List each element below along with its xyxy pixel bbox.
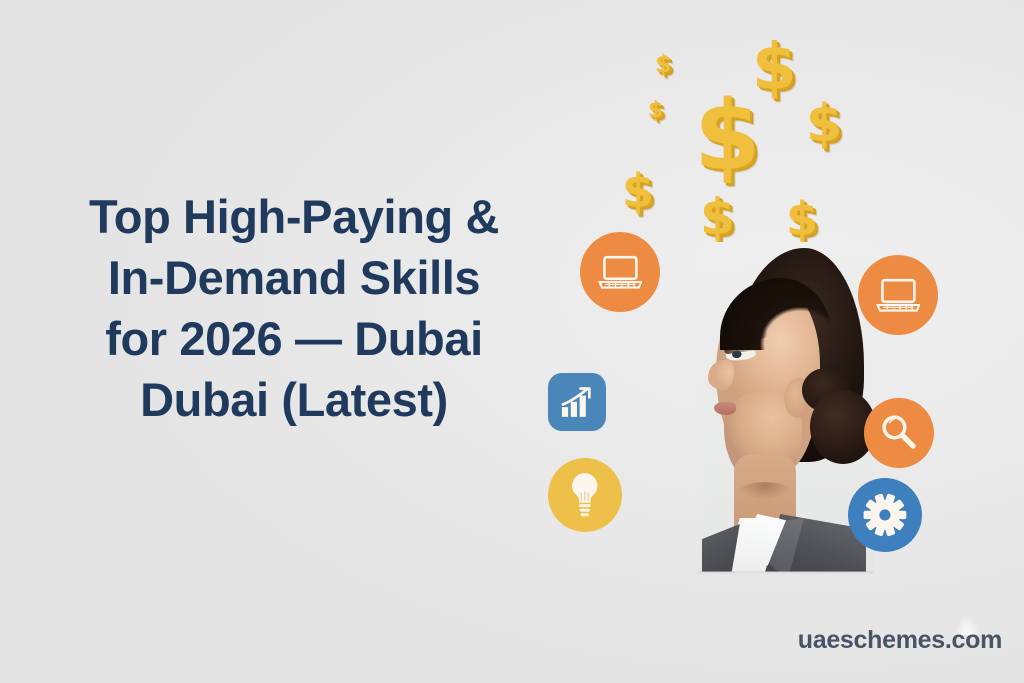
search-badge [864, 398, 934, 468]
dollar-sign-4: $ [622, 168, 654, 214]
lightbulb-badge [548, 458, 622, 532]
promo-banner: $$$$$$$$ [0, 0, 1024, 683]
growth-chart-badge [548, 373, 606, 431]
lightbulb-icon [567, 472, 603, 518]
dollar-sign-8: $ [648, 100, 663, 122]
dollar-sign-5: $ [700, 192, 735, 242]
chin-shadow [732, 482, 798, 516]
growth-chart-icon [559, 385, 595, 419]
search-icon [879, 413, 918, 452]
laptop-badge-left [580, 232, 660, 312]
dollar-sign-1: $ [694, 88, 761, 184]
laptop-icon [598, 254, 643, 291]
dollar-sign-2: $ [752, 36, 797, 100]
dollar-sign-7: $ [655, 52, 672, 76]
lips [714, 402, 736, 415]
gear-badge [848, 478, 922, 552]
site-watermark: uaeschemes.com [798, 626, 1002, 655]
dollar-sign-3: $ [806, 98, 842, 150]
laptop-icon [876, 277, 921, 314]
laptop-badge-right [858, 255, 938, 335]
businesswoman-profile-photo [698, 242, 874, 572]
gear-icon [862, 492, 908, 538]
dollar-sign-6: $ [786, 196, 818, 242]
photo-bottom-edge [698, 571, 874, 575]
nose-profile [708, 360, 734, 390]
page-title: Top High-Paying & In-Demand Skills for 2… [34, 186, 554, 430]
